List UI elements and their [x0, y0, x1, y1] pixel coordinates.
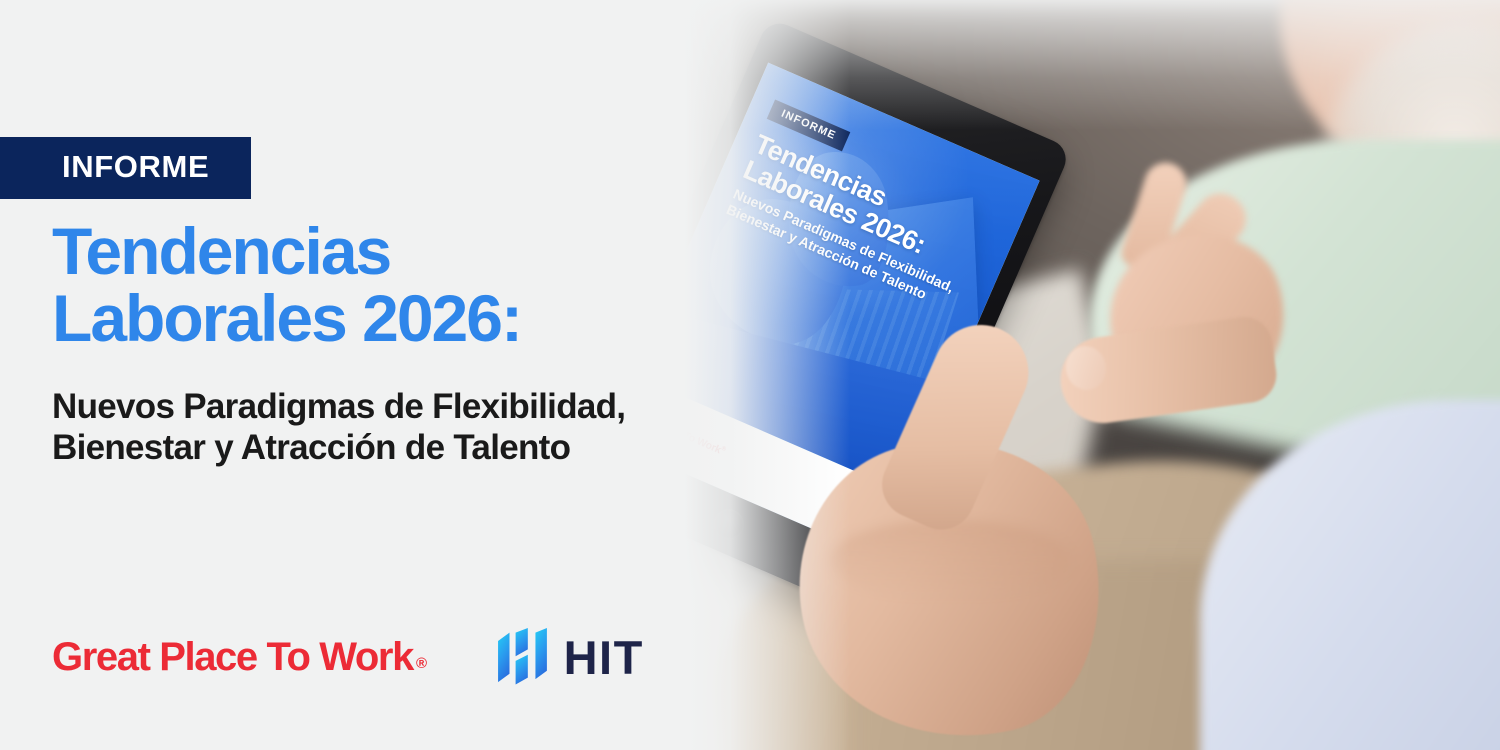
knuckles	[830, 520, 1070, 600]
headline-line1: Tendencias	[52, 214, 390, 288]
photo-scene: INFORME Tendencias Laborales 2026: Nuevo…	[620, 0, 1500, 750]
banner-canvas: INFORME Tendencias Laborales 2026: Nuevo…	[0, 0, 1500, 750]
report-badge: INFORME	[0, 137, 251, 199]
page-title: Tendencias Laborales 2026:	[52, 218, 752, 353]
hit-logo[interactable]: HIT	[498, 628, 644, 686]
great-place-to-work-logo[interactable]: Great Place To Work ®	[52, 635, 426, 680]
logo-row: Great Place To Work ® HIT	[52, 628, 644, 686]
subhead-line2: Bienestar y Atracción de Talento	[52, 428, 570, 467]
subhead-line1: Nuevos Paradigmas de Flexibilidad,	[52, 387, 625, 426]
person-index-finger-touching-screen	[1060, 300, 1290, 450]
headline-line2: Laborales 2026:	[52, 281, 521, 355]
gptw-wordmark: Great Place To Work	[52, 635, 413, 680]
hit-wordmark: HIT	[564, 630, 644, 685]
registered-trademark-icon: ®	[416, 655, 426, 672]
page-subtitle: Nuevos Paradigmas de Flexibilidad, Biene…	[52, 386, 782, 469]
hit-h-monogram-icon	[498, 628, 550, 686]
